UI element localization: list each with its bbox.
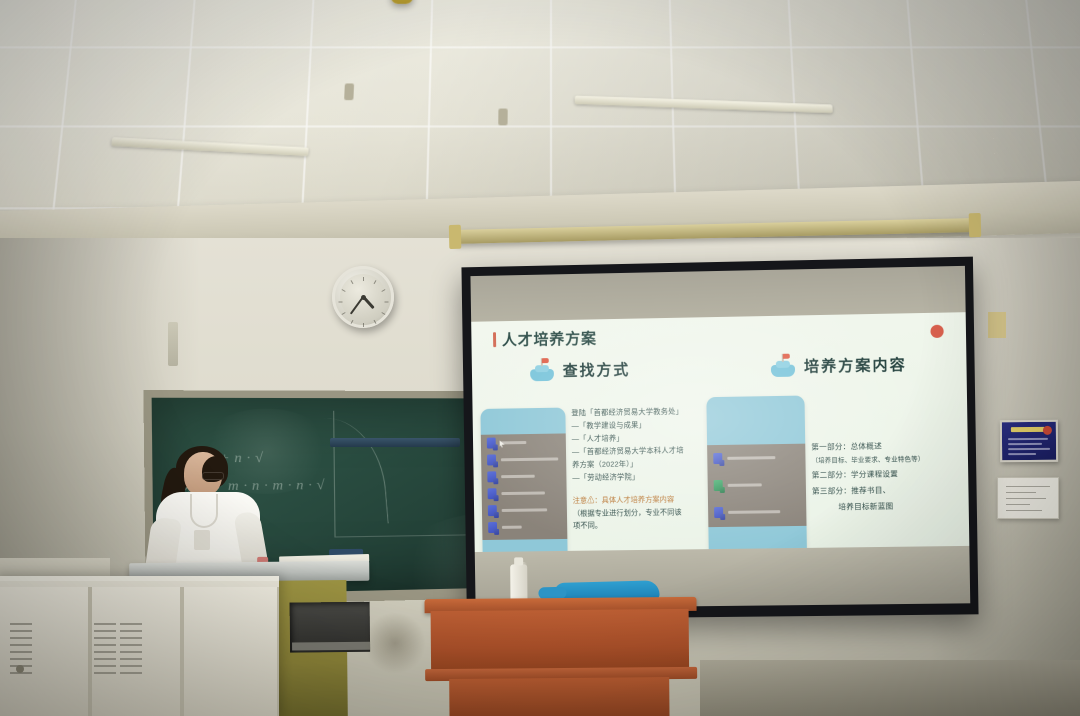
left-line-1: 登陆「首都经济贸易大学教务处」 bbox=[571, 406, 683, 420]
column-heading-right-text: 培养方案内容 bbox=[804, 353, 907, 376]
title-accent-bar bbox=[493, 332, 496, 347]
podium-front-panel bbox=[431, 609, 690, 673]
left-line-2: —「教学建设与成果」 bbox=[571, 419, 646, 433]
right-line-5: 培养目标新蓝图 bbox=[838, 501, 893, 514]
poster-seal-icon bbox=[1043, 426, 1052, 435]
word-file-icon bbox=[714, 507, 723, 518]
column-heading-left: 查找方式 bbox=[529, 357, 630, 383]
badge bbox=[194, 530, 210, 550]
sprinkler-icon bbox=[498, 109, 507, 126]
cabinet-vent bbox=[94, 623, 116, 677]
wall-notice-poster bbox=[1000, 420, 1058, 463]
cabinet-lock-icon[interactable] bbox=[16, 665, 24, 673]
water-bottle bbox=[510, 564, 527, 602]
list-item bbox=[708, 498, 807, 526]
classroom-scene: n = 1 + n · √ log n + m · n · m · n · √ … bbox=[0, 0, 1080, 716]
sprinkler-icon bbox=[344, 83, 354, 100]
file-list-screenshot bbox=[707, 444, 806, 527]
excel-file-icon bbox=[714, 480, 723, 491]
list-item bbox=[482, 484, 567, 502]
list-item bbox=[481, 467, 566, 485]
desk-shelf bbox=[292, 642, 370, 651]
cabinet-vent bbox=[120, 623, 142, 677]
screen-surface: 人才培养方案 查找方式 bbox=[470, 266, 970, 609]
left-line-3: —「人才培养」 bbox=[572, 433, 624, 446]
clock-face bbox=[340, 274, 386, 320]
wall-vent-icon bbox=[168, 322, 178, 366]
right-line-2: （培养目标、毕业要求、专业特色等） bbox=[811, 454, 924, 468]
metal-cabinet bbox=[0, 576, 279, 716]
slide-title: 人才培养方案 bbox=[493, 327, 597, 350]
word-file-icon bbox=[487, 471, 496, 482]
list-item bbox=[481, 433, 566, 451]
wall-paper-sheet bbox=[997, 477, 1059, 519]
note-line-2: （根据专业进行划分，专业不同该 bbox=[573, 506, 682, 520]
slide-content: 人才培养方案 查找方式 bbox=[471, 312, 970, 572]
left-line-6: —「劳动经济学院」 bbox=[572, 471, 639, 484]
wall-notice-card bbox=[988, 312, 1006, 338]
clock-center-pin bbox=[361, 295, 366, 300]
wall-clock bbox=[332, 266, 394, 328]
poster-title-block bbox=[1011, 427, 1045, 432]
column-heading-right: 培养方案内容 bbox=[770, 352, 907, 379]
word-file-icon bbox=[487, 454, 496, 465]
projection-screen: 人才培养方案 查找方式 bbox=[461, 257, 978, 620]
right-line-1: 第一部分：总体概述 bbox=[811, 440, 882, 454]
roller-end-cap bbox=[969, 213, 982, 237]
right-line-4: 第三部分：推荐书目、 bbox=[812, 485, 891, 499]
cabinet-door[interactable] bbox=[182, 587, 279, 716]
screenshot-panel-left bbox=[480, 408, 567, 568]
lectern-podium bbox=[424, 597, 697, 716]
cake-icon bbox=[529, 358, 555, 382]
word-file-icon bbox=[487, 438, 496, 449]
left-line-5: 养方案（2022年）」 bbox=[572, 458, 638, 471]
word-file-icon bbox=[713, 453, 722, 464]
left-note-block: 注意⚠：具体人才培养方案内容 （根据专业进行划分，专业不同该 项不同。 bbox=[573, 494, 682, 533]
word-file-icon bbox=[488, 488, 497, 499]
decorative-dot-icon bbox=[930, 325, 943, 338]
floor-area bbox=[700, 660, 1080, 716]
list-item bbox=[482, 501, 567, 519]
lanyard bbox=[190, 494, 218, 528]
screenshot-panel-right bbox=[706, 396, 807, 570]
cake-icon bbox=[770, 354, 796, 379]
list-item bbox=[482, 518, 567, 536]
column-heading-left-text: 查找方式 bbox=[563, 358, 631, 380]
file-list-screenshot bbox=[481, 433, 568, 540]
note-line-1: 注意⚠：具体人才培养方案内容 bbox=[573, 494, 682, 508]
list-item bbox=[707, 444, 806, 473]
glasses-icon bbox=[202, 472, 224, 480]
list-item bbox=[481, 450, 566, 468]
word-file-icon bbox=[488, 522, 497, 533]
slide-title-text: 人才培养方案 bbox=[502, 327, 597, 350]
podium-base bbox=[449, 677, 669, 716]
word-file-icon bbox=[488, 505, 497, 516]
right-line-3: 第二部分：学分课程设置 bbox=[812, 468, 899, 482]
chalk-tray bbox=[330, 438, 460, 447]
left-line-4: —「首都经济贸易大学本科人才培 bbox=[572, 445, 684, 459]
wall-stain bbox=[364, 612, 426, 674]
note-line-3: 项不同。 bbox=[573, 518, 682, 532]
roller-end-cap bbox=[449, 225, 462, 249]
list-item bbox=[708, 471, 807, 499]
